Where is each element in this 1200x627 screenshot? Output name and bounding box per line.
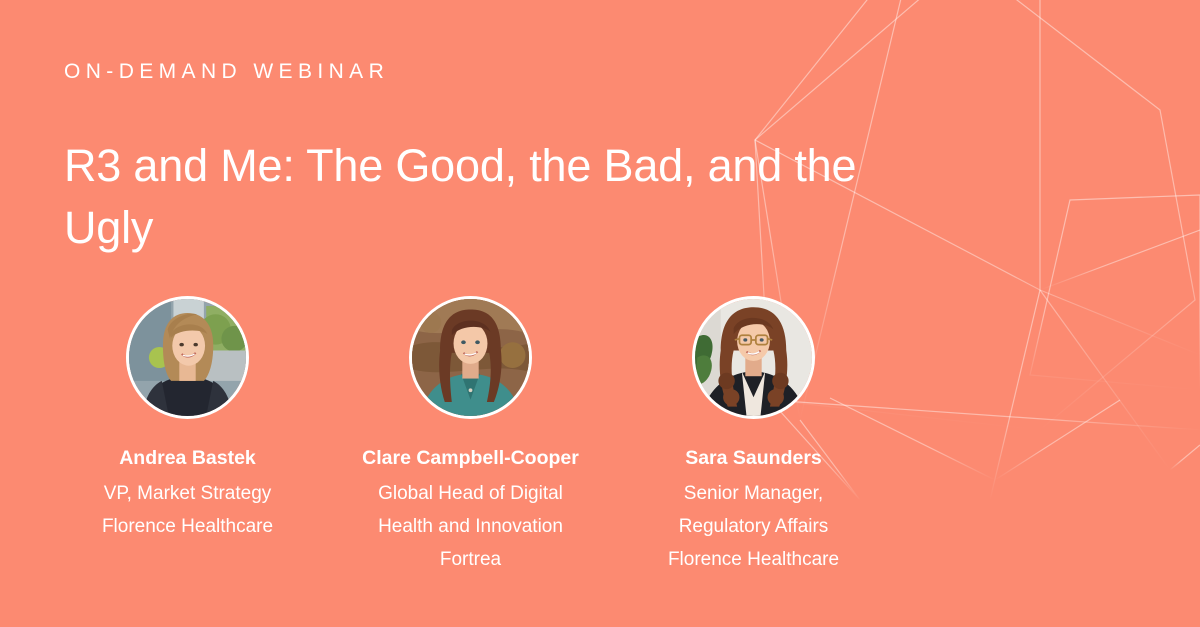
speaker-title-line: Global Head of Digital xyxy=(378,477,563,510)
speaker-card: Sara Saunders Senior Manager, Regulatory… xyxy=(612,296,895,576)
speaker-title: Senior Manager, Regulatory Affairs Flore… xyxy=(668,477,839,576)
speaker-name: Sara Saunders xyxy=(685,445,822,471)
speaker-card: Clare Campbell-Cooper Global Head of Dig… xyxy=(329,296,612,576)
eyebrow-label: ON-DEMAND WEBINAR xyxy=(64,60,389,84)
avatar xyxy=(126,296,249,419)
speaker-title-line: Florence Healthcare xyxy=(102,510,273,543)
speaker-title: Global Head of Digital Health and Innova… xyxy=(378,477,563,576)
speaker-card: Andrea Bastek VP, Market Strategy Floren… xyxy=(46,296,329,543)
speaker-title: VP, Market Strategy Florence Healthcare xyxy=(102,477,273,543)
speaker-name: Clare Campbell-Cooper xyxy=(362,445,579,471)
page-title: R3 and Me: The Good, the Bad, and the Ug… xyxy=(64,135,894,259)
speaker-title-line: Fortrea xyxy=(378,543,563,576)
speaker-title-line: VP, Market Strategy xyxy=(102,477,273,510)
speaker-list: Andrea Bastek VP, Market Strategy Floren… xyxy=(46,296,896,576)
speaker-title-line: Health and Innovation xyxy=(378,510,563,543)
speaker-title-line: Florence Healthcare xyxy=(668,543,839,576)
avatar xyxy=(692,296,815,419)
avatar xyxy=(409,296,532,419)
speaker-title-line: Senior Manager, xyxy=(668,477,839,510)
webinar-promo-canvas: ON-DEMAND WEBINAR R3 and Me: The Good, t… xyxy=(0,0,1200,627)
speaker-name: Andrea Bastek xyxy=(119,445,256,471)
speaker-title-line: Regulatory Affairs xyxy=(668,510,839,543)
